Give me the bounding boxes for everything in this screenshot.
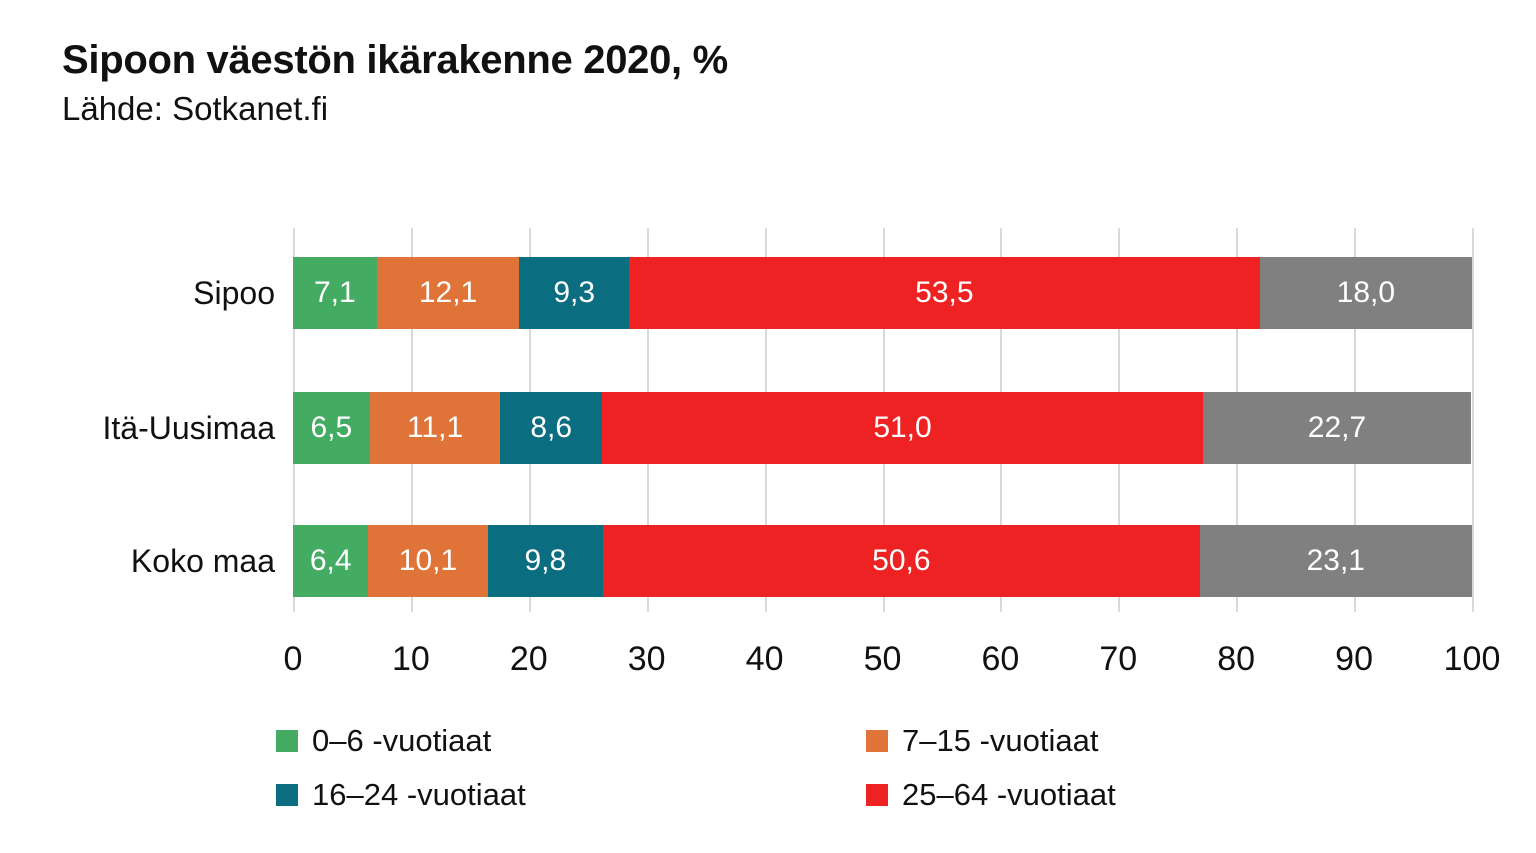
x-tick-label-30: 30 xyxy=(628,637,666,681)
bar-row-koko-maa[interactable]: 6,410,19,850,623,1 xyxy=(293,525,1472,597)
legend-item[interactable]: 25–64 -vuotiaat xyxy=(866,776,1456,814)
legend-label: 7–15 -vuotiaat xyxy=(902,722,1098,760)
gridline-100 xyxy=(1472,228,1474,612)
category-label-ita-uusimaa: Itä-Uusimaa xyxy=(15,410,275,446)
bar-segment[interactable]: 11,1 xyxy=(370,392,501,464)
legend-item[interactable]: 0–6 -vuotiaat xyxy=(276,722,866,760)
legend-swatch-icon xyxy=(276,784,298,806)
bar-row-sipoo[interactable]: 7,112,19,353,518,0 xyxy=(293,257,1472,329)
x-axis-ticks: 0102030405060708090100 xyxy=(293,637,1472,687)
x-tick-label-0: 0 xyxy=(284,637,303,681)
bar-segment-value: 22,7 xyxy=(1308,413,1366,443)
x-tick-label-90: 90 xyxy=(1335,637,1373,681)
bar-segment-value: 9,3 xyxy=(553,278,595,308)
bar-segment-value: 53,5 xyxy=(915,278,973,308)
bar-segment-value: 18,0 xyxy=(1337,278,1395,308)
bar-segment[interactable]: 22,7 xyxy=(1203,392,1471,464)
bar-segment[interactable]: 50,6 xyxy=(603,525,1200,597)
x-tick-label-50: 50 xyxy=(864,637,902,681)
x-tick-label-70: 70 xyxy=(1099,637,1137,681)
bar-segment[interactable]: 51,0 xyxy=(602,392,1203,464)
bar-segment-value: 6,5 xyxy=(310,413,352,443)
bar-segment-value: 7,1 xyxy=(314,278,356,308)
bar-segment[interactable]: 9,3 xyxy=(519,257,629,329)
bar-segment[interactable]: 9,8 xyxy=(488,525,604,597)
bar-segment-value: 23,1 xyxy=(1307,546,1365,576)
legend-label: 0–6 -vuotiaat xyxy=(312,722,491,760)
bar-segment[interactable]: 23,1 xyxy=(1200,525,1472,597)
category-label-sipoo: Sipoo xyxy=(15,275,275,311)
bar-segment[interactable]: 12,1 xyxy=(377,257,520,329)
legend-swatch-icon xyxy=(866,730,888,752)
bar-segment[interactable]: 6,5 xyxy=(293,392,370,464)
bar-segment-value: 6,4 xyxy=(310,546,352,576)
bar-row-ita-uusimaa[interactable]: 6,511,18,651,022,7 xyxy=(293,392,1472,464)
bar-segment-value: 9,8 xyxy=(524,546,566,576)
bar-segment[interactable]: 7,1 xyxy=(293,257,377,329)
legend-swatch-icon xyxy=(276,730,298,752)
chart-legend: 0–6 -vuotiaat7–15 -vuotiaat16–24 -vuotia… xyxy=(276,722,1456,814)
legend-item[interactable]: 7–15 -vuotiaat xyxy=(866,722,1456,760)
bar-segment-value: 50,6 xyxy=(872,546,930,576)
bar-segment[interactable]: 8,6 xyxy=(500,392,601,464)
bar-segment[interactable]: 10,1 xyxy=(368,525,487,597)
bar-segment-value: 51,0 xyxy=(873,413,931,443)
bar-segment-value: 12,1 xyxy=(419,278,477,308)
legend-label: 25–64 -vuotiaat xyxy=(902,776,1116,814)
bar-segment[interactable]: 6,4 xyxy=(293,525,368,597)
category-label-koko-maa: Koko maa xyxy=(15,543,275,579)
bar-segment-value: 8,6 xyxy=(530,413,572,443)
x-tick-label-10: 10 xyxy=(392,637,430,681)
bar-segment-value: 11,1 xyxy=(407,413,463,443)
x-tick-label-100: 100 xyxy=(1444,637,1501,681)
legend-swatch-icon xyxy=(866,784,888,806)
plot-area: 7,112,19,353,518,0 6,511,18,651,022,7 6,… xyxy=(293,228,1472,612)
legend-item[interactable]: 16–24 -vuotiaat xyxy=(276,776,866,814)
bar-segment-value: 10,1 xyxy=(399,546,457,576)
x-tick-label-80: 80 xyxy=(1217,637,1255,681)
bar-segment[interactable]: 53,5 xyxy=(629,257,1260,329)
x-tick-label-20: 20 xyxy=(510,637,548,681)
bar-segment[interactable]: 18,0 xyxy=(1260,257,1472,329)
legend-label: 16–24 -vuotiaat xyxy=(312,776,526,814)
category-axis: Sipoo Itä-Uusimaa Koko maa xyxy=(13,228,275,612)
x-tick-label-60: 60 xyxy=(981,637,1019,681)
x-tick-label-40: 40 xyxy=(746,637,784,681)
